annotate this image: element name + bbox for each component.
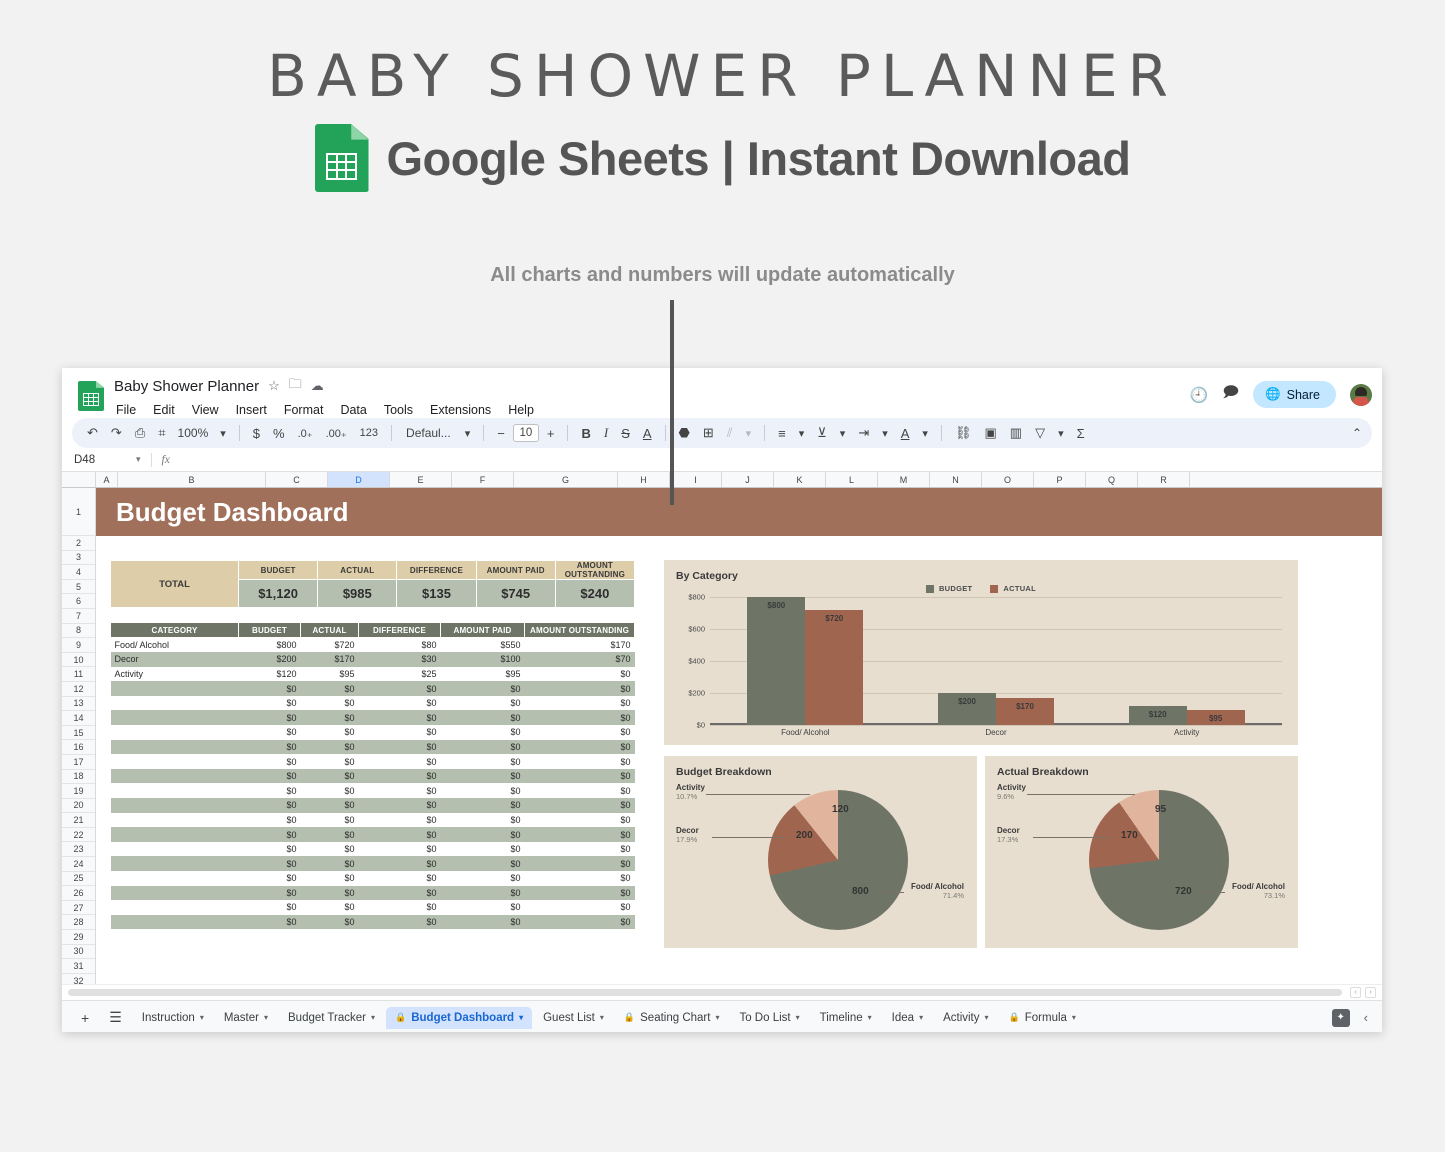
comment-icon[interactable]: 🗩 [1222,382,1239,407]
row-header-28[interactable]: 28 [62,915,95,930]
budget-tables: TOTAL BUDGET ACTUAL DIFFERENCE AMOUNT PA… [110,560,635,929]
cell-r9-c2[interactable]: $0 [301,769,359,784]
chevron-down-icon[interactable]: ▾ [919,1013,923,1022]
cell-r15-c3[interactable]: $0 [359,856,441,871]
cell-r0-c4[interactable]: $550 [441,638,525,653]
chevron-down-icon[interactable]: ▾ [600,1013,604,1022]
cell-r8-c4[interactable]: $0 [441,754,525,769]
cell-r3-c2[interactable]: $0 [301,681,359,696]
cell-r10-c5[interactable]: $0 [525,783,635,798]
document-title[interactable]: Baby Shower Planner [114,378,259,395]
cell-r18-c4[interactable]: $0 [441,900,525,915]
row-header-1[interactable]: 1 [62,488,95,536]
table-row[interactable]: $0$0$0$0$0 [111,813,635,828]
all-sheets-icon[interactable]: ☰ [100,1009,131,1026]
cell-r14-c3[interactable]: $0 [359,842,441,857]
cell-r19-c3[interactable]: $0 [359,915,441,930]
rotation-caret-icon[interactable]: ▾ [917,424,933,443]
cell-r3-c5[interactable]: $0 [525,681,635,696]
font-caret-icon[interactable]: ▾ [460,424,476,443]
cell-r2-c1[interactable]: $120 [239,667,301,682]
table-row[interactable]: $0$0$0$0$0 [111,886,635,901]
more-formats-icon[interactable]: 123 [355,424,383,442]
cell-r10-c4[interactable]: $0 [441,783,525,798]
budget-breakdown-chart[interactable]: Budget Breakdown 800 200 120 Activity10.… [664,756,977,948]
cell-r17-c2[interactable]: $0 [301,886,359,901]
cell-r17-c4[interactable]: $0 [441,886,525,901]
table-row[interactable]: $0$0$0$0$0 [111,856,635,871]
pie1-callout-food: Food/ Alcohol71.4% [898,882,964,900]
name-box-caret-icon[interactable]: ▾ [136,454,141,465]
increase-decimal-icon[interactable]: .00₊ [321,424,352,443]
cell-r8-c1[interactable]: $0 [239,754,301,769]
dashboard-banner: Budget Dashboard [96,488,1382,536]
cell-r17-c1[interactable]: $0 [239,886,301,901]
cell-r17-c3[interactable]: $0 [359,886,441,901]
cell-r3-c0[interactable] [111,681,239,696]
cell-r13-c1[interactable]: $0 [239,827,301,842]
row-header-12[interactable]: 12 [62,682,95,697]
cell-r13-c0[interactable] [111,827,239,842]
row-header-9[interactable]: 9 [62,638,95,653]
row-header-5[interactable]: 5 [62,580,95,595]
cell-r6-c5[interactable]: $0 [525,725,635,740]
menu-view[interactable]: View [190,401,221,419]
table-row[interactable]: $0$0$0$0$0 [111,681,635,696]
chevron-down-icon[interactable]: ▾ [264,1013,268,1022]
cell-r2-c0[interactable]: Activity [111,667,239,682]
column-header-d[interactable]: D [328,472,390,487]
column-header-c[interactable]: C [266,472,328,487]
cell-r4-c0[interactable] [111,696,239,711]
cell-r14-c4[interactable]: $0 [441,842,525,857]
menu-tools[interactable]: Tools [382,401,415,419]
cell-r15-c5[interactable]: $0 [525,856,635,871]
halign-caret-icon[interactable]: ▾ [794,424,810,443]
font-family-select[interactable]: Defaul... [400,423,457,443]
cell-r1-c5[interactable]: $70 [525,652,635,667]
cell-r3-c1[interactable]: $0 [239,681,301,696]
horizontal-align-icon[interactable]: ≡ [773,423,791,444]
add-sheet-button[interactable]: + [72,1010,98,1026]
promo-subtitle: Google Sheets | Instant Download [387,131,1131,186]
merge-cells-icon[interactable]: ⫽ [722,422,738,444]
lock-globe-icon: 🌐 [1265,387,1281,402]
cloud-saved-icon[interactable]: ☁ [311,378,324,394]
move-to-folder-icon[interactable]: 🗀 [289,375,302,397]
cell-r7-c0[interactable] [111,740,239,755]
table-row[interactable]: $0$0$0$0$0 [111,710,635,725]
bar-chart[interactable]: By Category BUDGET ACTUAL $0$200$400$600… [664,560,1298,745]
table-row[interactable]: $0$0$0$0$0 [111,754,635,769]
insert-chart-icon[interactable]: ▥ [1005,422,1027,444]
sheet-tab-seating-chart[interactable]: 🔒Seating Chart▾ [615,1007,729,1029]
cell-r4-c3[interactable]: $0 [359,696,441,711]
avatar[interactable] [1350,384,1372,406]
chevron-down-icon[interactable]: ▾ [200,1013,204,1022]
row-header-25[interactable]: 25 [62,872,95,887]
cell-r11-c5[interactable]: $0 [525,798,635,813]
text-color-icon[interactable]: A [638,423,657,444]
sheet-tab-activity[interactable]: Activity▾ [934,1007,997,1029]
cell-r7-c5[interactable]: $0 [525,740,635,755]
cell-r0-c3[interactable]: $80 [359,638,441,653]
cell-r16-c3[interactable]: $0 [359,871,441,886]
valign-caret-icon[interactable]: ▾ [835,424,851,443]
table-row[interactable]: $0$0$0$0$0 [111,696,635,711]
row-header-30[interactable]: 30 [62,945,95,960]
row-header-32[interactable]: 32 [62,974,95,984]
cell-r7-c2[interactable]: $0 [301,740,359,755]
cell-r2-c2[interactable]: $95 [301,667,359,682]
cell-r12-c3[interactable]: $0 [359,813,441,828]
italic-icon[interactable]: I [599,422,613,444]
cell-r18-c2[interactable]: $0 [301,900,359,915]
column-header-q[interactable]: Q [1086,472,1138,487]
cell-r4-c1[interactable]: $0 [239,696,301,711]
cell-r5-c3[interactable]: $0 [359,710,441,725]
cell-r10-c1[interactable]: $0 [239,783,301,798]
chevron-down-icon[interactable]: ▾ [1072,1013,1076,1022]
row-header-23[interactable]: 23 [62,842,95,857]
cell-r11-c1[interactable]: $0 [239,798,301,813]
cell-r19-c1[interactable]: $0 [239,915,301,930]
cell-r13-c2[interactable]: $0 [301,827,359,842]
cell-r15-c2[interactable]: $0 [301,856,359,871]
decrease-decimal-icon[interactable]: .0₊ [293,424,318,443]
table-row[interactable]: $0$0$0$0$0 [111,769,635,784]
cell-r4-c2[interactable]: $0 [301,696,359,711]
row-header-6[interactable]: 6 [62,594,95,609]
cell-r18-c1[interactable]: $0 [239,900,301,915]
cell-r18-c0[interactable] [111,900,239,915]
cell-r14-c2[interactable]: $0 [301,842,359,857]
row-header-20[interactable]: 20 [62,799,95,814]
sheet-tab-budget-dashboard[interactable]: 🔒Budget Dashboard▾ [386,1007,532,1029]
column-header-f[interactable]: F [452,472,514,487]
column-header-m[interactable]: M [878,472,930,487]
cell-r12-c2[interactable]: $0 [301,813,359,828]
cell-r19-c5[interactable]: $0 [525,915,635,930]
cell-r13-c4[interactable]: $0 [441,827,525,842]
menu-data[interactable]: Data [338,401,368,419]
cell-r6-c3[interactable]: $0 [359,725,441,740]
menu-extensions[interactable]: Extensions [428,401,493,419]
cell-r5-c4[interactable]: $0 [441,710,525,725]
actual-breakdown-title: Actual Breakdown [997,766,1286,778]
column-header-k[interactable]: K [774,472,826,487]
row-header-3[interactable]: 3 [62,551,95,566]
cell-r5-c1[interactable]: $0 [239,710,301,725]
category-header-3: DIFFERENCE [359,623,441,638]
cell-r14-c5[interactable]: $0 [525,842,635,857]
cell-r6-c1[interactable]: $0 [239,725,301,740]
row-header-18[interactable]: 18 [62,770,95,785]
sheet-tab-instruction[interactable]: Instruction▾ [133,1007,213,1029]
insert-link-icon[interactable]: ⛓ [950,422,977,444]
cell-r15-c4[interactable]: $0 [441,856,525,871]
cell-r6-c2[interactable]: $0 [301,725,359,740]
cell-r14-c1[interactable]: $0 [239,842,301,857]
cell-r16-c2[interactable]: $0 [301,871,359,886]
row-header-7[interactable]: 7 [62,609,95,624]
cell-r14-c0[interactable] [111,842,239,857]
cell-r10-c3[interactable]: $0 [359,783,441,798]
strikethrough-icon[interactable]: S [616,423,635,444]
cell-r2-c4[interactable]: $95 [441,667,525,682]
cell-r16-c4[interactable]: $0 [441,871,525,886]
row-header-10[interactable]: 10 [62,653,95,668]
cell-r17-c5[interactable]: $0 [525,886,635,901]
explore-icon[interactable]: ✦ [1332,1009,1350,1027]
cell-r1-c3[interactable]: $30 [359,652,441,667]
menu-help[interactable]: Help [506,401,536,419]
cell-r11-c4[interactable]: $0 [441,798,525,813]
chevron-down-icon[interactable]: ▾ [519,1013,523,1022]
zoom-level[interactable]: 100% [174,424,213,442]
row-header-4[interactable]: 4 [62,565,95,580]
star-icon[interactable]: ☆ [268,378,280,394]
sheet-tab-guest-list[interactable]: Guest List▾ [534,1007,613,1029]
filter-caret-icon[interactable]: ▾ [1053,424,1069,443]
share-button[interactable]: 🌐 Share [1253,381,1336,408]
table-row[interactable]: $0$0$0$0$0 [111,827,635,842]
row-header-29[interactable]: 29 [62,930,95,945]
functions-icon[interactable]: Σ [1072,423,1090,444]
row-header-21[interactable]: 21 [62,813,95,828]
text-wrap-icon[interactable]: ⇥ [853,422,874,444]
cell-r12-c0[interactable] [111,813,239,828]
cell-r11-c2[interactable]: $0 [301,798,359,813]
cell-r16-c5[interactable]: $0 [525,871,635,886]
row-header-26[interactable]: 26 [62,886,95,901]
total-difference-value: $135 [397,580,476,608]
cell-r2-c5[interactable]: $0 [525,667,635,682]
chevron-down-icon[interactable]: ▾ [715,1013,719,1022]
cell-r5-c2[interactable]: $0 [301,710,359,725]
cell-r19-c2[interactable]: $0 [301,915,359,930]
cell-r6-c4[interactable]: $0 [441,725,525,740]
chevron-down-icon[interactable]: ▾ [985,1013,989,1022]
sheet-tab-label: Seating Chart [640,1012,710,1024]
column-header-p[interactable]: P [1034,472,1086,487]
menu-edit[interactable]: Edit [151,401,177,419]
cell-r10-c2[interactable]: $0 [301,783,359,798]
decrease-font-size-button[interactable]: − [492,423,510,444]
cell-r0-c0[interactable]: Food/ Alcohol [111,638,239,653]
version-history-icon[interactable]: 🕘 [1190,386,1209,404]
percent-icon[interactable]: % [268,423,290,444]
cell-r4-c4[interactable]: $0 [441,696,525,711]
cell-r5-c5[interactable]: $0 [525,710,635,725]
bar-actual-1: $170 [996,698,1054,725]
wrap-caret-icon[interactable]: ▾ [877,424,893,443]
select-all-corner[interactable] [62,472,96,487]
column-header-g[interactable]: G [514,472,618,487]
sheet-tab-formula[interactable]: 🔒Formula▾ [1000,1007,1085,1029]
cell-r8-c2[interactable]: $0 [301,754,359,769]
row-header-16[interactable]: 16 [62,740,95,755]
table-row[interactable]: $0$0$0$0$0 [111,915,635,930]
column-header-b[interactable]: B [118,472,266,487]
table-row[interactable]: $0$0$0$0$0 [111,871,635,886]
row-header-24[interactable]: 24 [62,857,95,872]
column-header-a[interactable]: A [96,472,118,487]
fill-color-icon[interactable]: ⬣ [674,422,695,444]
sheet-tab-master[interactable]: Master▾ [215,1007,277,1029]
row-header-31[interactable]: 31 [62,959,95,974]
cell-r9-c5[interactable]: $0 [525,769,635,784]
cell-r12-c5[interactable]: $0 [525,813,635,828]
x-label-2: Activity [1091,728,1282,737]
table-row[interactable]: $0$0$0$0$0 [111,740,635,755]
cell-r1-c4[interactable]: $100 [441,652,525,667]
cell-r3-c3[interactable]: $0 [359,681,441,696]
cell-r15-c0[interactable] [111,856,239,871]
cell-r17-c0[interactable] [111,886,239,901]
toolbar-divider [941,425,942,441]
scroll-right-button[interactable]: › [1365,987,1376,998]
bar-chart-x-labels: Food/ AlcoholDecorActivity [710,728,1282,737]
pie2-value-activity: 95 [1155,804,1166,815]
cell-r11-c0[interactable] [111,798,239,813]
cell-r6-c0[interactable] [111,725,239,740]
cell-r3-c4[interactable]: $0 [441,681,525,696]
font-size-input[interactable]: 10 [513,424,539,442]
currency-icon[interactable]: $ [248,423,265,444]
column-header-n[interactable]: N [930,472,982,487]
chevron-down-icon[interactable]: ▾ [371,1013,375,1022]
row-header-14[interactable]: 14 [62,711,95,726]
column-header-e[interactable]: E [390,472,452,487]
sheet-tab-to-do-list[interactable]: To Do List▾ [730,1007,808,1029]
row-header-19[interactable]: 19 [62,784,95,799]
cell-r19-c0[interactable] [111,915,239,930]
cell-r18-c5[interactable]: $0 [525,900,635,915]
y-tick-2: $400 [688,657,705,666]
row-header-11[interactable]: 11 [62,667,95,682]
menu-file[interactable]: File [114,401,138,419]
insert-comment-icon[interactable]: ▣ [979,422,1001,444]
chevron-left-icon[interactable]: ‹ [1364,1010,1368,1025]
cell-r4-c5[interactable]: $0 [525,696,635,711]
cell-r0-c1[interactable]: $800 [239,638,301,653]
increase-font-size-button[interactable]: + [542,423,560,444]
menu-insert[interactable]: Insert [234,401,269,419]
column-header-h[interactable]: H [618,472,670,487]
table-row[interactable]: Activity$120$95$25$95$0 [111,667,635,682]
column-header-i[interactable]: I [670,472,722,487]
row-header-22[interactable]: 22 [62,828,95,843]
print-icon[interactable]: ⎙ [130,422,150,444]
cell-r1-c1[interactable]: $200 [239,652,301,667]
cell-r5-c0[interactable] [111,710,239,725]
cell-r2-c3[interactable]: $25 [359,667,441,682]
cell-r19-c4[interactable]: $0 [441,915,525,930]
table-row[interactable]: $0$0$0$0$0 [111,842,635,857]
cell-r9-c3[interactable]: $0 [359,769,441,784]
cell-r12-c4[interactable]: $0 [441,813,525,828]
column-header-l[interactable]: L [826,472,878,487]
borders-icon[interactable]: ⊞ [698,422,719,444]
cell-r0-c2[interactable]: $720 [301,638,359,653]
cell-r10-c0[interactable] [111,783,239,798]
vertical-align-icon[interactable]: ⊻ [812,422,832,444]
cell-r7-c4[interactable]: $0 [441,740,525,755]
cell-r16-c1[interactable]: $0 [239,871,301,886]
bar-chart-plot: $0$200$400$600$800$800$720$200$170$120$9… [710,597,1282,725]
cell-r18-c3[interactable]: $0 [359,900,441,915]
cell-r7-c1[interactable]: $0 [239,740,301,755]
totals-header-actual: ACTUAL [318,561,397,580]
filter-icon[interactable]: ▽ [1030,422,1050,444]
cell-r1-c2[interactable]: $170 [301,652,359,667]
bold-icon[interactable]: B [576,423,595,444]
menu-format[interactable]: Format [282,401,326,419]
cell-r7-c3[interactable]: $0 [359,740,441,755]
merge-caret-icon[interactable]: ▾ [741,424,757,443]
cell-r13-c5[interactable]: $0 [525,827,635,842]
table-row[interactable]: Food/ Alcohol$800$720$80$550$170 [111,638,635,653]
row-header-8[interactable]: 8 [62,624,95,639]
column-header-j[interactable]: J [722,472,774,487]
text-rotation-icon[interactable]: A [896,423,915,444]
scroll-left-button[interactable]: ‹ [1350,987,1361,998]
cell-r1-c0[interactable]: Decor [111,652,239,667]
cell-r9-c4[interactable]: $0 [441,769,525,784]
row-header-17[interactable]: 17 [62,755,95,770]
cell-r8-c0[interactable] [111,754,239,769]
paint-format-icon[interactable]: ⌗ [153,422,170,444]
table-row[interactable]: $0$0$0$0$0 [111,798,635,813]
sheet-tab-timeline[interactable]: Timeline▾ [811,1007,881,1029]
sheet-tab-idea[interactable]: Idea▾ [883,1007,932,1029]
redo-icon[interactable]: ↷ [106,422,127,444]
row-header-27[interactable]: 27 [62,901,95,916]
row-header-15[interactable]: 15 [62,726,95,741]
chevron-down-icon[interactable]: ▾ [796,1013,800,1022]
undo-icon[interactable]: ↶ [82,422,103,444]
scrollbar-track[interactable] [68,989,1342,996]
table-row[interactable]: $0$0$0$0$0 [111,725,635,740]
cell-r9-c0[interactable] [111,769,239,784]
table-row[interactable]: $0$0$0$0$0 [111,900,635,915]
cell-r9-c1[interactable]: $0 [239,769,301,784]
cell-r8-c3[interactable]: $0 [359,754,441,769]
gridline [710,725,1282,726]
cell-r13-c3[interactable]: $0 [359,827,441,842]
cell-r15-c1[interactable]: $0 [239,856,301,871]
actual-breakdown-chart[interactable]: Actual Breakdown 720 170 95 Activity9.6%… [985,756,1298,948]
cell-r16-c0[interactable] [111,871,239,886]
cell-r11-c3[interactable]: $0 [359,798,441,813]
column-header-o[interactable]: O [982,472,1034,487]
table-row[interactable]: Decor$200$170$30$100$70 [111,652,635,667]
column-header-r[interactable]: R [1138,472,1190,487]
cell-r8-c5[interactable]: $0 [525,754,635,769]
chevron-up-icon[interactable]: ⌃ [1352,426,1362,440]
chevron-down-icon[interactable]: ▾ [868,1013,872,1022]
sheet-tab-budget-tracker[interactable]: Budget Tracker▾ [279,1007,384,1029]
table-row[interactable]: $0$0$0$0$0 [111,783,635,798]
row-header-2[interactable]: 2 [62,536,95,551]
cell-reference-box[interactable]: D48 [74,454,136,466]
cell-r0-c5[interactable]: $170 [525,638,635,653]
zoom-caret-icon[interactable]: ▾ [215,424,231,443]
horizontal-scrollbar[interactable]: ‹ › [62,984,1382,1000]
cell-r12-c1[interactable]: $0 [239,813,301,828]
row-header-13[interactable]: 13 [62,697,95,712]
